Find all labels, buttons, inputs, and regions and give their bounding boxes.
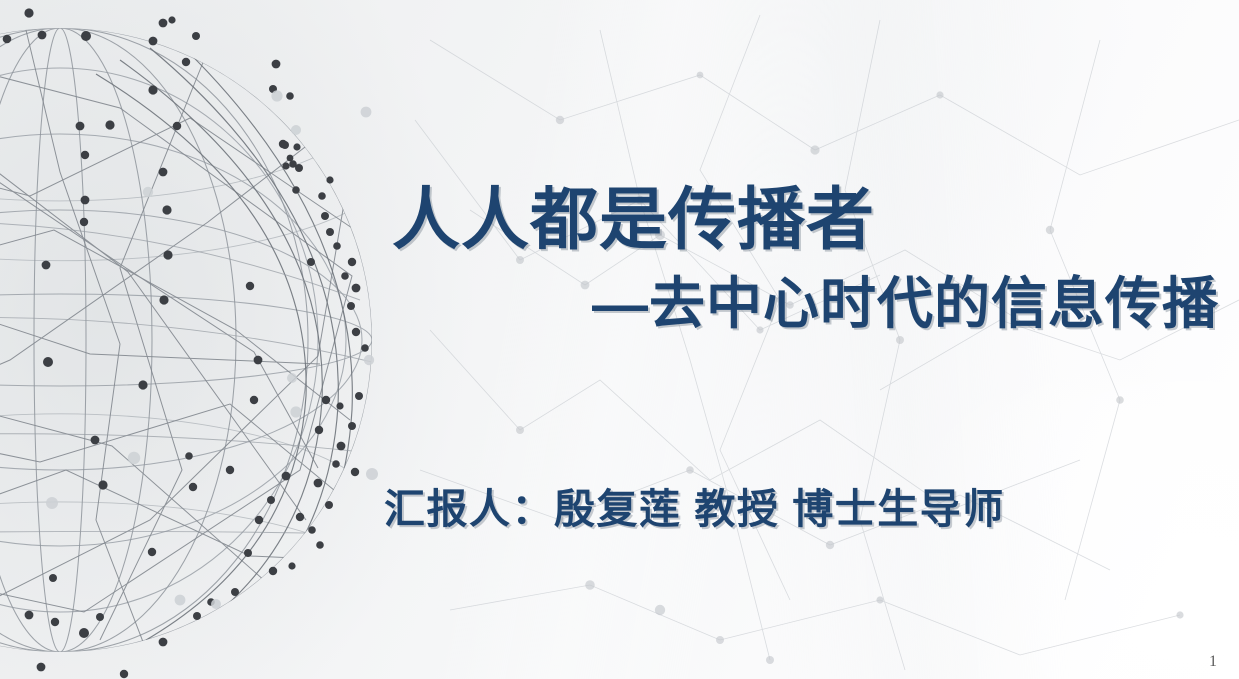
title-slide: 人人都是传播者 —去中心时代的信息传播 汇报人：殷复莲 教授 博士生导师 1 <box>0 0 1239 679</box>
page-number: 1 <box>1209 653 1217 671</box>
slide-text-layer: 人人都是传播者 —去中心时代的信息传播 汇报人：殷复莲 教授 博士生导师 1 <box>0 0 1239 679</box>
presenter-line: 汇报人：殷复莲 教授 博士生导师 <box>384 489 1005 530</box>
page-subtitle: —去中心时代的信息传播 <box>592 276 1219 332</box>
page-title: 人人都是传播者 <box>392 186 875 254</box>
